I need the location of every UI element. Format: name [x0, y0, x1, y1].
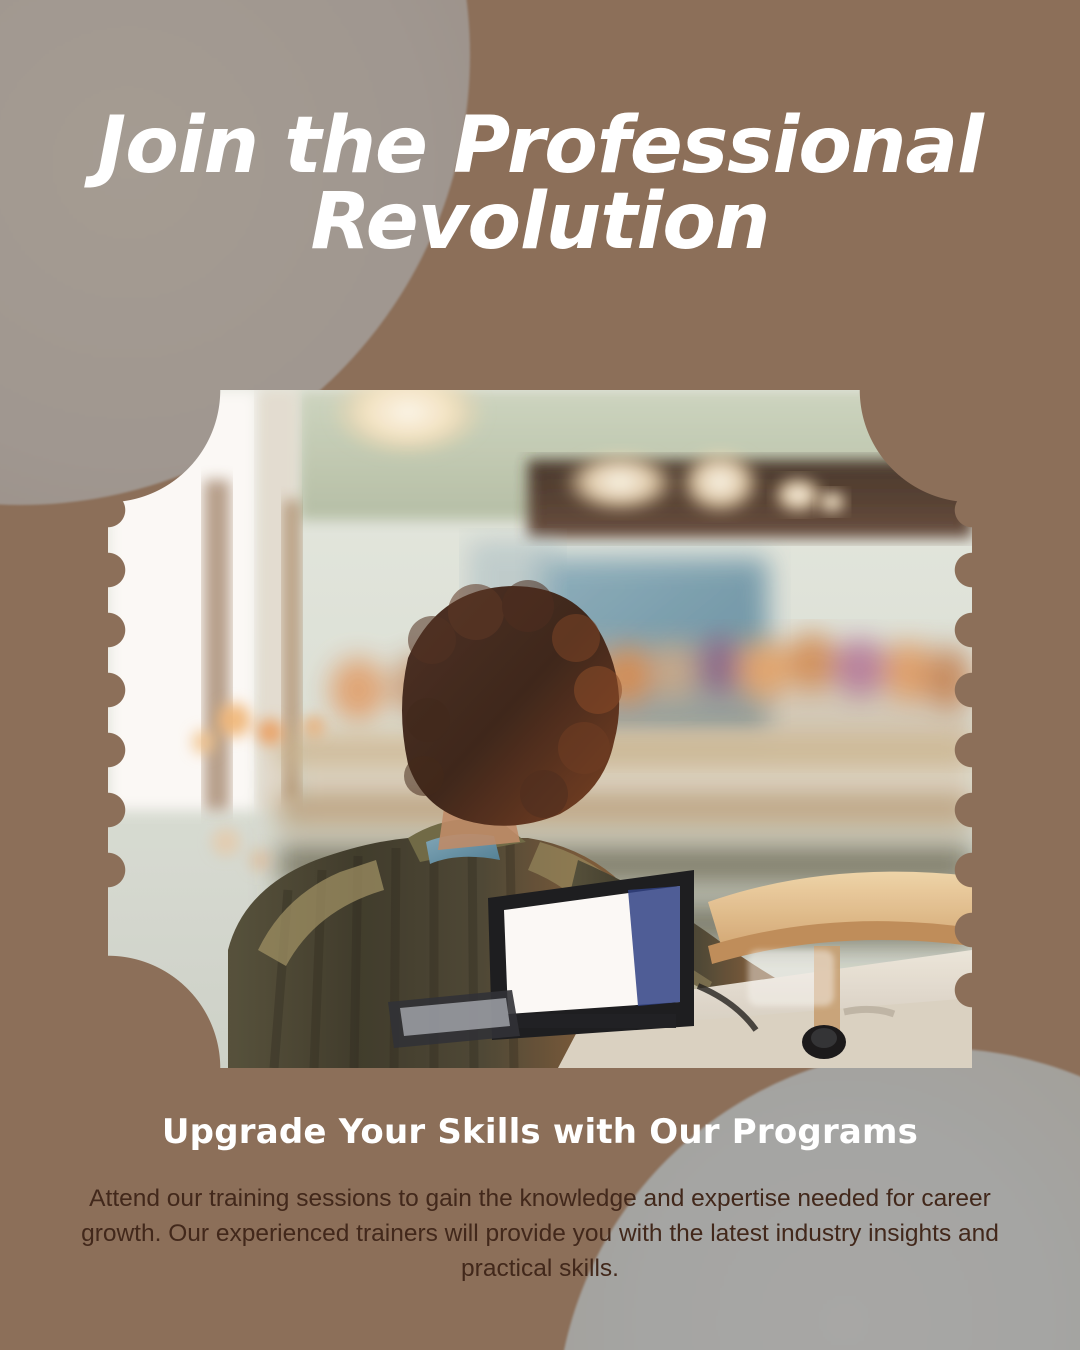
headline-line-2: Revolution [60, 184, 1020, 260]
hero-photo-frame [108, 390, 972, 1068]
poster-canvas: Join the Professional Revolution [0, 0, 1080, 1350]
hero-photo [108, 390, 972, 1068]
body-paragraph: Attend our training sessions to gain the… [60, 1182, 1020, 1286]
page-title: Join the Professional Revolution [0, 108, 1080, 261]
section-subtitle: Upgrade Your Skills with Our Programs [0, 1112, 1080, 1152]
